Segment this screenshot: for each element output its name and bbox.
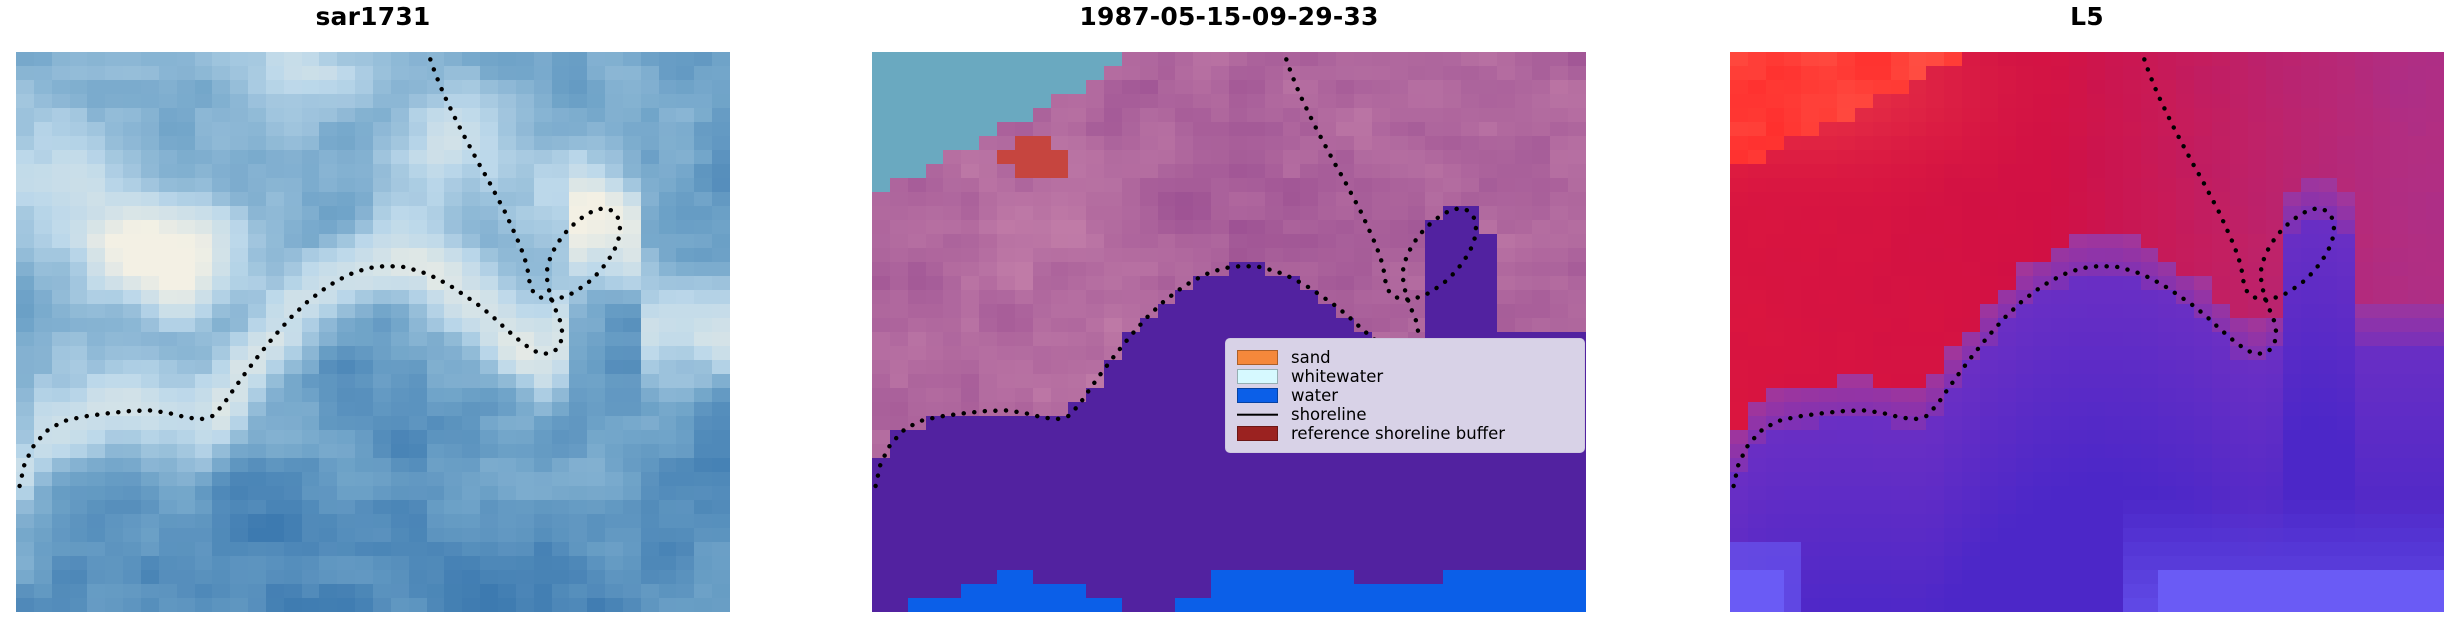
raster-layer (1730, 52, 2444, 612)
legend-item[interactable]: sand (1237, 348, 1573, 367)
legend-item[interactable]: water (1237, 386, 1573, 405)
legend-swatch-line-3 (1237, 407, 1278, 422)
legend-box: sandwhitewaterwatershorelinereference sh… (1225, 338, 1585, 453)
legend-label: water (1291, 386, 1338, 405)
panel-l5: L5 (1730, 0, 2444, 624)
figure-canvas: sar1731 1987-05-15-09-29-33 L5 sandwhite… (0, 0, 2460, 624)
raster-layer (16, 52, 730, 612)
legend-label: sand (1291, 348, 1331, 367)
panel-title-rgb: 1987-05-15-09-29-33 (872, 2, 1586, 32)
axes-image-l5[interactable] (1730, 52, 2444, 612)
legend-item[interactable]: whitewater (1237, 367, 1573, 386)
legend-swatch-4 (1237, 426, 1278, 441)
panel-sar: sar1731 (16, 0, 730, 624)
panel-title-l5: L5 (1730, 2, 2444, 32)
legend-swatch-2 (1237, 388, 1278, 403)
legend-swatch-1 (1237, 369, 1278, 384)
panel-title-sar: sar1731 (16, 2, 730, 32)
legend-item[interactable]: shoreline (1237, 405, 1573, 424)
legend-label: shoreline (1291, 405, 1367, 424)
legend-swatch-0 (1237, 350, 1278, 365)
axes-image-rgb[interactable] (872, 52, 1586, 612)
axes-image-sar[interactable] (16, 52, 730, 612)
legend-label: reference shoreline buffer (1291, 424, 1505, 443)
legend-label: whitewater (1291, 367, 1383, 386)
raster-layer (872, 52, 1586, 612)
legend-item[interactable]: reference shoreline buffer (1237, 424, 1573, 443)
panel-rgb: 1987-05-15-09-29-33 (872, 0, 1586, 624)
